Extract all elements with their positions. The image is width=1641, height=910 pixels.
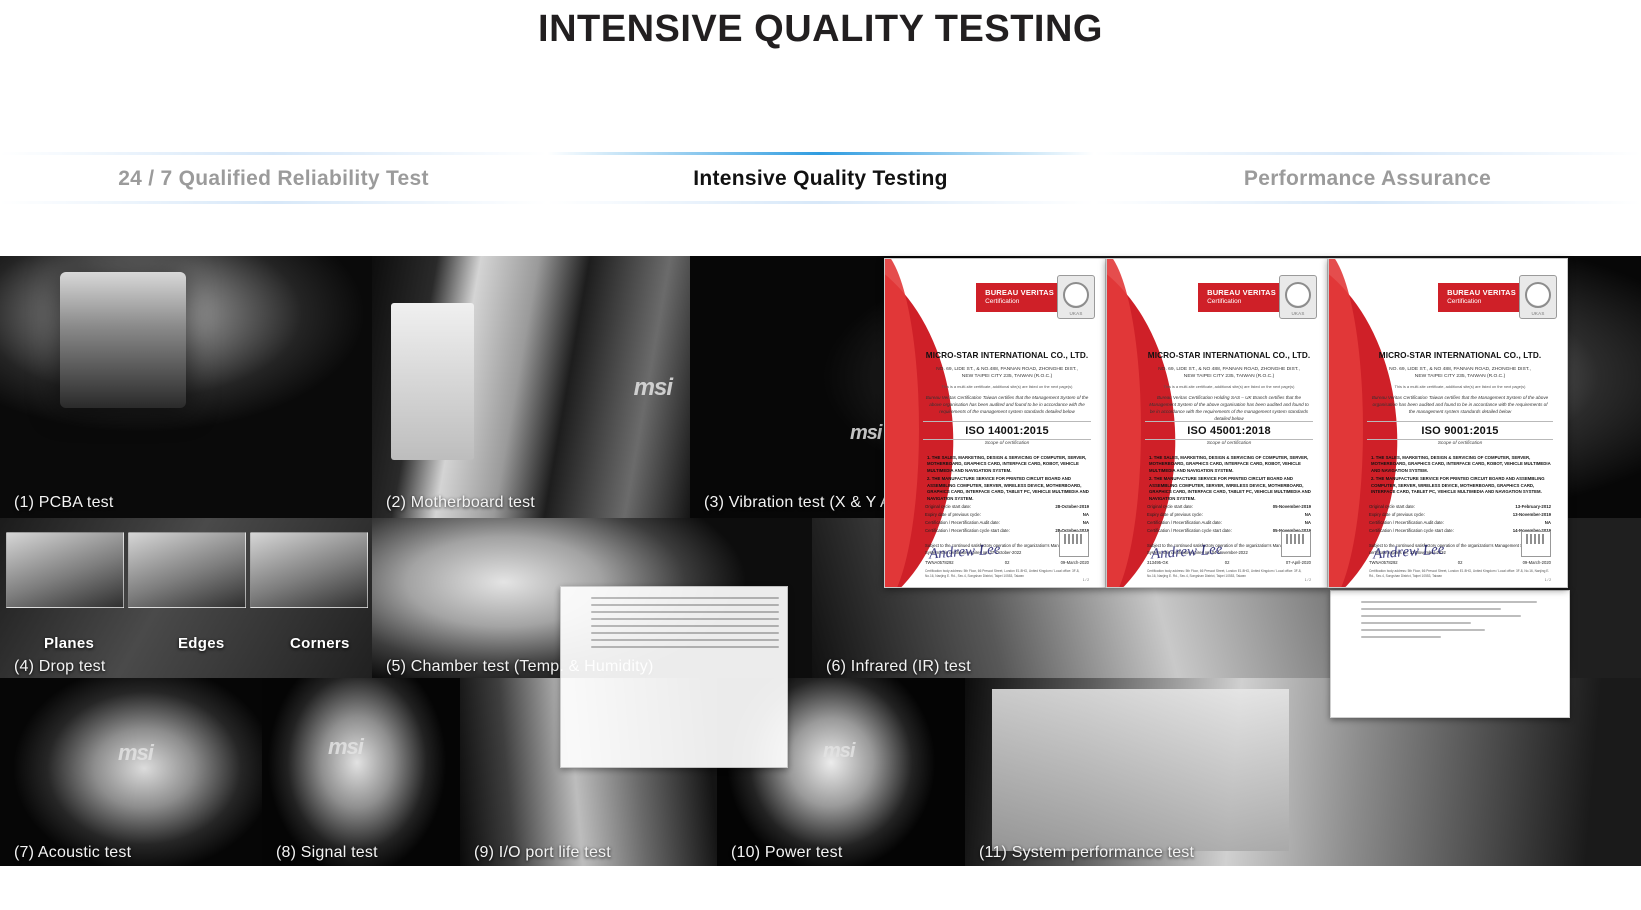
bureau-veritas-logo: BUREAU VERITAS Certification (1438, 283, 1525, 312)
ukas-accreditation-mark (1281, 531, 1311, 557)
quality-testing-page: INTENSIVE QUALITY TESTING 24 / 7 Qualifi… (0, 0, 1641, 910)
bv-logo-line1: BUREAU VERITAS (1447, 289, 1516, 298)
certificate-paragraph: Bureau Veritas Certification Holding SAS… (1147, 395, 1311, 423)
date-value: 13-February-2012 (1515, 503, 1551, 511)
cell-caption: (1) PCBA test (14, 494, 114, 512)
ukas-seal-text: UKAS (1058, 311, 1094, 316)
certificate-page-number: 1 / 2 (1083, 578, 1089, 582)
date-label: Certification / Recertification Audit da… (925, 519, 1000, 527)
tab-label: 24 / 7 Qualified Reliability Test (118, 168, 429, 189)
photo-signal-test (262, 678, 460, 866)
ghost-text-lines (1361, 601, 1561, 643)
certificate-address: NO. 69, LIDE ST., & NO 488, PANNAN ROAD,… (1365, 366, 1555, 380)
certificate-footer: Certification body address: 5th Floor, 6… (1369, 569, 1551, 579)
cell-caption: (9) I/O port life test (474, 844, 611, 862)
bureau-veritas-logo: BUREAU VERITAS Certification (1198, 283, 1285, 312)
bureau-veritas-logo: BUREAU VERITAS Certification (976, 283, 1063, 312)
page-title: INTENSIVE QUALITY TESTING (0, 8, 1641, 51)
drop-sublabel-corners: Corners (290, 635, 350, 652)
certificate-iso-45001[interactable]: BUREAU VERITAS Certification UKAS MICRO-… (1106, 258, 1328, 588)
certificate-gallery: BUREAU VERITAS Certification UKAS MICRO-… (884, 258, 1568, 588)
scope-item: 1. THE SALES, MARKETING, DESIGN & SERVIC… (1371, 455, 1551, 474)
certificate-page-number: 1 / 2 (1545, 578, 1551, 582)
drop-sublabel-edges: Edges (178, 635, 225, 652)
certificate-footer: Certification body address: 5th Floor, 6… (1147, 569, 1311, 579)
date-value: 28-October-2019 (1055, 503, 1089, 511)
tab-intensive-quality-testing[interactable]: Intensive Quality Testing (547, 152, 1094, 204)
certificate-multisite-note: This is a multi-site certificate, additi… (1147, 384, 1311, 389)
photo-acoustic-test (0, 678, 262, 866)
tab-label: Intensive Quality Testing (693, 168, 948, 189)
certificate-company: MICRO-STAR INTERNATIONAL CO., LTD. (1365, 351, 1555, 360)
divider (1367, 439, 1553, 440)
certificate-scope-list: 1. THE SALES, MARKETING, DESIGN & SERVIC… (927, 455, 1089, 504)
certificate-scope-label: Scope of certification (1143, 441, 1315, 446)
date-row: Original cycle start date:28-October-201… (925, 503, 1089, 511)
date-row: Original cycle start date:13-February-20… (1369, 503, 1551, 511)
date-value: NA (1545, 519, 1551, 527)
date-label: Certification / Recertification cycle st… (925, 527, 1010, 535)
address-line-1: NO. 69, LIDE ST., & NO.488, PANNAN ROAD,… (921, 366, 1093, 373)
certificate-multisite-note: This is a multi-site certificate, additi… (925, 384, 1089, 389)
date-row: Certification / Recertification Audit da… (1369, 519, 1551, 527)
certificate-ghost-lower-left (560, 586, 788, 768)
drop-thumb-planes (6, 532, 124, 608)
msi-logo: msi (634, 374, 672, 402)
ukas-seal-icon: UKAS (1057, 275, 1095, 319)
tab-label: Performance Assurance (1244, 168, 1491, 189)
certificate-address: NO. 69, LIDE ST., & NO.488, PANNAN ROAD,… (921, 366, 1093, 380)
date-value: NA (1083, 511, 1089, 519)
divider (1145, 439, 1313, 440)
cell-caption: (7) Acoustic test (14, 844, 131, 862)
certificate-version: 02 (1005, 560, 1010, 565)
certificate-company: MICRO-STAR INTERNATIONAL CO., LTD. (921, 351, 1093, 360)
drop-thumb-corners (250, 532, 368, 608)
date-value: NA (1305, 519, 1311, 527)
ukas-seal-icon: UKAS (1279, 275, 1317, 319)
certificate-scope-label: Scope of certification (921, 441, 1093, 446)
tab-reliability-test[interactable]: 24 / 7 Qualified Reliability Test (0, 152, 547, 204)
date-value: NA (1305, 511, 1311, 519)
ghost-text-lines (591, 597, 779, 653)
cell-caption: (6) Infrared (IR) test (826, 658, 971, 676)
certificate-footer: Certification body address: 5th Floor, 6… (925, 569, 1089, 579)
date-row: Original cycle start date:05-November-20… (1147, 503, 1311, 511)
tab-performance-assurance[interactable]: Performance Assurance (1094, 152, 1641, 204)
date-row: Expiry date of previous cycle:NA (1147, 511, 1311, 519)
certificate-iso-14001[interactable]: BUREAU VERITAS Certification UKAS MICRO-… (884, 258, 1106, 588)
certificate-revision: 09-March-2020 (1061, 560, 1089, 565)
msi-logo: msi (118, 740, 153, 766)
date-label: Certification / Recertification cycle st… (1369, 527, 1454, 535)
date-value: 13-November-2019 (1513, 511, 1551, 519)
certificate-address: NO. 69, LIDE ST., & NO 488, PANNAN ROAD,… (1143, 366, 1315, 380)
cell-caption: (8) Signal test (276, 844, 378, 862)
date-row: Expiry date of previous cycle:NA (925, 511, 1089, 519)
certificate-scope-list: 1. THE SALES, MARKETING, DESIGN & SERVIC… (1149, 455, 1311, 504)
date-label: Certification / Recertification Audit da… (1147, 519, 1222, 527)
certificate-multisite-note: This is a multi-site certificate, additi… (1369, 384, 1551, 389)
divider (1367, 421, 1553, 422)
certificate-ghost-lower-right (1330, 590, 1570, 718)
bv-logo-line2: Certification (985, 298, 1054, 305)
msi-logo: msi (823, 740, 854, 763)
date-label: Original cycle start date: (925, 503, 971, 511)
bv-logo-line1: BUREAU VERITAS (985, 289, 1054, 298)
ukas-seal-text: UKAS (1520, 311, 1556, 316)
certificate-iso-9001[interactable]: BUREAU VERITAS Certification UKAS MICRO-… (1328, 258, 1568, 588)
ukas-accreditation-mark (1059, 531, 1089, 557)
scope-item: 1. THE SALES, MARKETING, DESIGN & SERVIC… (927, 455, 1089, 474)
address-line-2: NEW TAIPEI CITY 235, TAIWAN (R.O.C.) (1365, 373, 1555, 380)
date-label: Expiry date of previous cycle: (925, 511, 981, 519)
certificate-revision: 09-March-2020 (1523, 560, 1551, 565)
date-row: Certification / Recertification Audit da… (925, 519, 1089, 527)
collage-cell-pcba-test[interactable]: (1) PCBA test (0, 256, 372, 518)
bv-logo-line2: Certification (1447, 298, 1516, 305)
scope-item: 2. THE MANUFACTURE SERVICE FOR PRINTED C… (1149, 476, 1311, 502)
date-value: 05-November-2019 (1273, 503, 1311, 511)
date-row: Certification / Recertification Audit da… (1147, 519, 1311, 527)
certificate-page-number: 1 / 2 (1305, 578, 1311, 582)
certificate-paragraph: Bureau Veritas Certification Taiwan cert… (1369, 395, 1551, 416)
date-label: Certification / Recertification cycle st… (1147, 527, 1232, 535)
scope-item: 1. THE SALES, MARKETING, DESIGN & SERVIC… (1149, 455, 1311, 474)
certificate-revision: 07-April-2020 (1286, 560, 1311, 565)
drop-sublabel-planes: Planes (44, 635, 94, 652)
divider (923, 439, 1091, 440)
certificate-iso-standard: ISO 14001:2015 (921, 425, 1093, 437)
ukas-seal-icon: UKAS (1519, 275, 1557, 319)
bv-logo-line1: BUREAU VERITAS (1207, 289, 1276, 298)
date-value: NA (1083, 519, 1089, 527)
date-label: Certification / Recertification Audit da… (1369, 519, 1444, 527)
certificate-version: 02 (1225, 560, 1230, 565)
address-line-1: NO. 69, LIDE ST., & NO 488, PANNAN ROAD,… (1365, 366, 1555, 373)
ukas-seal-text: UKAS (1280, 311, 1316, 316)
collage-cell-motherboard-test[interactable]: msi (2) Motherboard test (372, 256, 690, 518)
date-row: Expiry date of previous cycle:13-Novembe… (1369, 511, 1551, 519)
date-label: Original cycle start date: (1369, 503, 1415, 511)
date-label: Original cycle start date: (1147, 503, 1193, 511)
certificate-iso-standard: ISO 45001:2018 (1143, 425, 1315, 437)
tab-bar: 24 / 7 Qualified Reliability Test Intens… (0, 152, 1641, 204)
divider (923, 421, 1091, 422)
collage-cell-acoustic-test[interactable]: msi (7) Acoustic test (0, 678, 262, 866)
certificate-version: 02 (1458, 560, 1463, 565)
certificate-company: MICRO-STAR INTERNATIONAL CO., LTD. (1143, 351, 1315, 360)
address-line-2: NEW TAIPEI CITY 235, TAIWAN (R.O.C.) (1143, 373, 1315, 380)
photo-pcba-test (0, 256, 372, 518)
certificate-iso-standard: ISO 9001:2015 (1365, 425, 1555, 437)
certificate-scope-list: 1. THE SALES, MARKETING, DESIGN & SERVIC… (1371, 455, 1551, 498)
cell-caption: (2) Motherboard test (386, 494, 535, 512)
certificate-scope-label: Scope of certification (1365, 441, 1555, 446)
divider (1145, 421, 1313, 422)
date-label: Expiry date of previous cycle: (1369, 511, 1425, 519)
msi-logo: msi (328, 734, 363, 760)
ukas-accreditation-mark (1521, 531, 1551, 557)
scope-item: 2. THE MANUFACTURE SERVICE FOR PRINTED C… (927, 476, 1089, 502)
cell-caption: (10) Power test (731, 844, 842, 862)
scope-item: 2. THE MANUFACTURE SERVICE FOR PRINTED C… (1371, 476, 1551, 495)
certificate-paragraph: Bureau Veritas Certification Taiwan cert… (925, 395, 1089, 416)
date-label: Expiry date of previous cycle: (1147, 511, 1203, 519)
address-line-1: NO. 69, LIDE ST., & NO 488, PANNAN ROAD,… (1143, 366, 1315, 373)
msi-logo: msi (850, 422, 881, 445)
cell-caption: (4) Drop test (14, 658, 106, 676)
collage-cell-signal-test[interactable]: msi (8) Signal test (262, 678, 460, 866)
cell-caption: (11) System performance test (979, 844, 1194, 862)
drop-thumb-edges (128, 532, 246, 608)
bv-logo-line2: Certification (1207, 298, 1276, 305)
collage-cell-drop-test[interactable]: msi Planes Edges Corners (4) Drop test (0, 518, 372, 678)
address-line-2: NEW TAIPEI CITY 235, TAIWAN (R.O.C.) (921, 373, 1093, 380)
